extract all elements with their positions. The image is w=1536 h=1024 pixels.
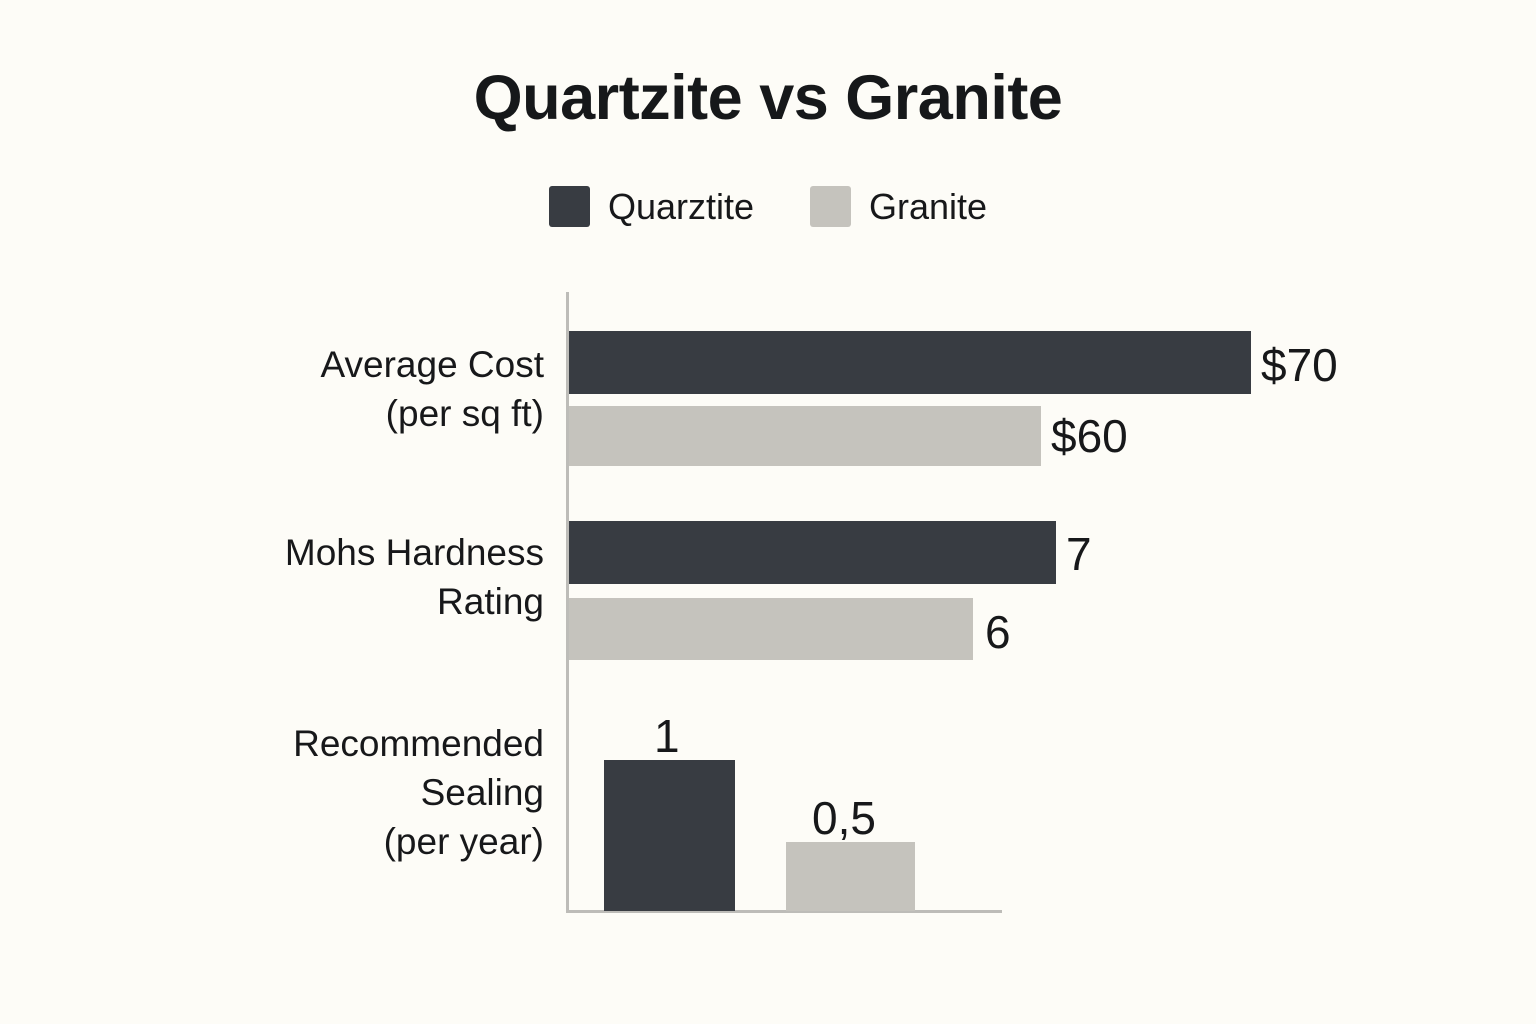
category-label-mohs-hardness: Mohs Hardness Rating [120, 528, 544, 626]
value-label-average-cost-granite: $60 [1051, 413, 1128, 459]
legend-item-quartzite[interactable]: Quarztite [549, 186, 754, 227]
value-label-average-cost-quartzite: $70 [1261, 342, 1338, 388]
category-label-average-cost: Average Cost (per sq ft) [120, 340, 544, 438]
legend-label-granite: Granite [869, 189, 987, 225]
legend-label-quartzite: Quarztite [608, 189, 754, 225]
legend-swatch-icon-quartzite [549, 186, 590, 227]
value-label-recommended-sealing-quartzite: 1 [654, 713, 680, 759]
value-label-recommended-sealing-granite: 0,5 [812, 795, 876, 841]
legend-swatch-icon-granite [810, 186, 851, 227]
category-label-recommended-sealing: Recommended Sealing (per year) [120, 719, 544, 866]
bar-mohs-hardness-granite[interactable] [569, 598, 973, 660]
bar-recommended-sealing-granite[interactable] [786, 842, 915, 911]
chart-legend: Quarztite Granite [0, 186, 1536, 227]
bar-mohs-hardness-quartzite[interactable] [569, 521, 1056, 584]
chart-title: Quartzite vs Granite [0, 62, 1536, 134]
bar-average-cost-quartzite[interactable] [569, 331, 1251, 394]
legend-item-granite[interactable]: Granite [810, 186, 987, 227]
chart-canvas: Quartzite vs Granite Quarztite Granite A… [0, 0, 1536, 1024]
bar-average-cost-granite[interactable] [569, 406, 1041, 466]
value-label-mohs-hardness-quartzite: 7 [1066, 531, 1092, 577]
bar-recommended-sealing-quartzite[interactable] [604, 760, 735, 911]
value-label-mohs-hardness-granite: 6 [985, 609, 1011, 655]
